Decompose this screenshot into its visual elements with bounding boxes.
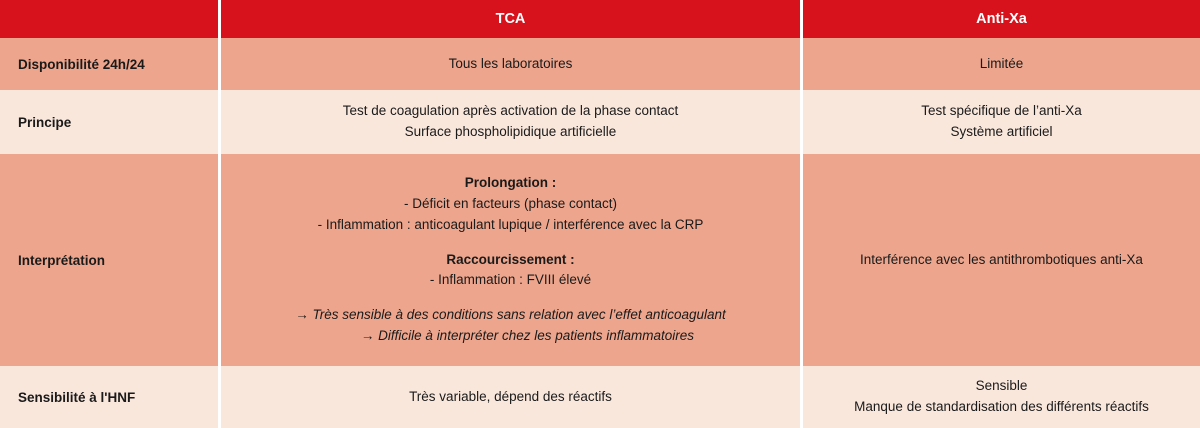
note-line-2: → Difficile à interpréter chez les patie… (327, 326, 694, 347)
header-cell-tca: TCA (218, 0, 800, 38)
table-row: Sensibilité à l'HNF Très variable, dépen… (0, 366, 1200, 428)
row-label-text: Principe (18, 115, 71, 130)
cell-text: Interférence avec les antithrombotiques … (860, 250, 1143, 271)
interpretation-block: Prolongation : - Déficit en facteurs (ph… (231, 173, 790, 347)
table-header-row: TCA Anti-Xa (0, 0, 1200, 38)
cell-text: Limitée (980, 54, 1024, 75)
header-cell-antixa: Anti-Xa (800, 0, 1200, 38)
row-label-interpretation: Interprétation (0, 154, 218, 366)
table-row: Principe Test de coagulation après activ… (0, 90, 1200, 154)
prolongation-item-1: - Déficit en facteurs (phase contact) (404, 194, 617, 215)
comparison-table: TCA Anti-Xa Disponibilité 24h/24 Tous le… (0, 0, 1200, 428)
row-label-sensibilite-hnf: Sensibilité à l'HNF (0, 366, 218, 428)
row-label-principe: Principe (0, 90, 218, 154)
cell-antixa-interpretation: Interférence avec les antithrombotiques … (800, 154, 1200, 366)
table-row: Interprétation Prolongation : - Déficit … (0, 154, 1200, 366)
cell-antixa-disponibilite: Limitée (800, 38, 1200, 90)
prolongation-title: Prolongation : (465, 173, 557, 194)
cell-text-line-1: Sensible (976, 376, 1028, 397)
cell-text-line-1: Test de coagulation après activation de … (343, 101, 678, 122)
header-cell-blank (0, 0, 218, 38)
cell-tca-sensibilite: Très variable, dépend des réactifs (218, 366, 800, 428)
header-label-antixa: Anti-Xa (976, 11, 1027, 27)
row-label-disponibilite: Disponibilité 24h/24 (0, 38, 218, 90)
cell-text-line-2: Surface phospholipidique artificielle (405, 122, 617, 143)
cell-antixa-sensibilite: Sensible Manque de standardisation des d… (800, 366, 1200, 428)
cell-text-line-2: Manque de standardisation des différents… (854, 397, 1149, 418)
cell-text-line-1: Test spécifique de l’anti-Xa (921, 101, 1082, 122)
cell-tca-interpretation: Prolongation : - Déficit en facteurs (ph… (218, 154, 800, 366)
raccourcissement-item-1: - Inflammation : FVIII élevé (430, 270, 591, 291)
note-line-1: → Très sensible à des conditions sans re… (295, 305, 726, 326)
cell-tca-principe: Test de coagulation après activation de … (218, 90, 800, 154)
cell-tca-disponibilite: Tous les laboratoires (218, 38, 800, 90)
cell-text-line-2: Système artificiel (950, 122, 1052, 143)
prolongation-item-2: - Inflammation : anticoagulant lupique /… (318, 215, 704, 236)
header-label-tca: TCA (496, 11, 526, 27)
cell-text: Tous les laboratoires (449, 54, 573, 75)
row-label-text: Sensibilité à l'HNF (18, 390, 135, 405)
raccourcissement-title: Raccourcissement : (446, 250, 574, 271)
row-label-text: Interprétation (18, 253, 105, 268)
cell-text: Très variable, dépend des réactifs (409, 387, 612, 408)
row-label-text: Disponibilité 24h/24 (18, 57, 145, 72)
cell-antixa-principe: Test spécifique de l’anti-Xa Système art… (800, 90, 1200, 154)
table-row: Disponibilité 24h/24 Tous les laboratoir… (0, 38, 1200, 90)
